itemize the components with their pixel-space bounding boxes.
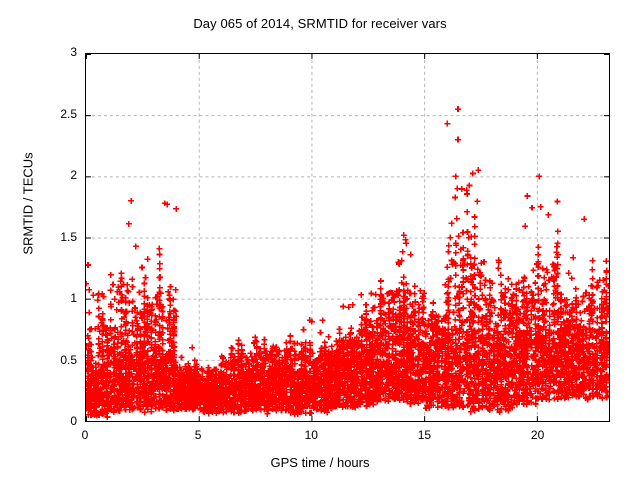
y-tick-label: 3: [41, 45, 77, 59]
chart-title: Day 065 of 2014, SRMTID for receiver var…: [0, 16, 640, 31]
x-tick-label: 0: [65, 428, 105, 442]
chart-root: Day 065 of 2014, SRMTID for receiver var…: [0, 0, 640, 480]
y-tick-label: 1: [41, 291, 77, 305]
x-tick-label: 10: [291, 428, 331, 442]
x-tick-label: 20: [518, 428, 558, 442]
y-tick-label: 0.5: [41, 353, 77, 367]
y-tick-label: 0: [41, 414, 77, 428]
y-axis-title: SRMTID / TECUs: [21, 114, 36, 294]
y-tick-label: 2: [41, 168, 77, 182]
plot-area: [85, 53, 610, 422]
x-axis-title: GPS time / hours: [0, 455, 640, 470]
y-tick-label: 1.5: [41, 230, 77, 244]
x-tick-label: 15: [404, 428, 444, 442]
data-points-layer: [86, 54, 609, 421]
y-tick-label: 2.5: [41, 107, 77, 121]
x-tick-label: 5: [178, 428, 218, 442]
